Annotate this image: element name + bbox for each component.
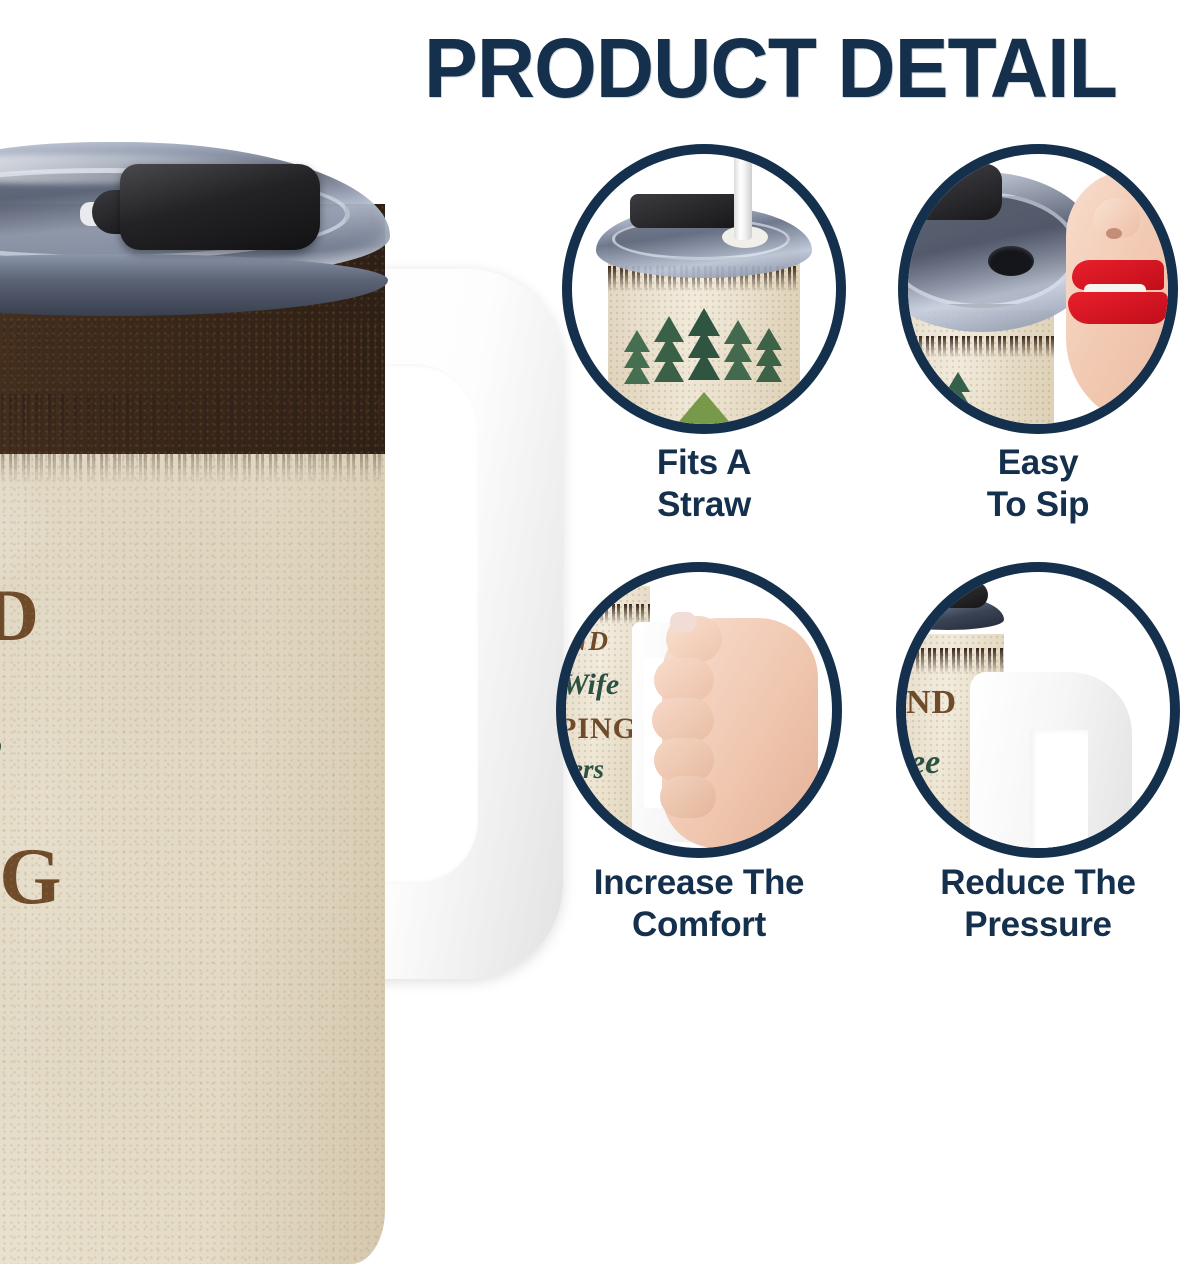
pine-tree-icon: [688, 314, 720, 380]
product-detail-page: PRODUCT DETAIL SBAND Wife MPING rtners l…: [0, 0, 1200, 1200]
pine-tree-icon: [724, 326, 752, 380]
mini-quote-partners: ners: [556, 754, 604, 785]
quote-line-camping: MPING: [0, 832, 64, 923]
mini-drip-fringe: [898, 336, 1054, 358]
lower-lip: [1068, 292, 1168, 324]
sip-spout-opening: [988, 246, 1034, 276]
lid-black-latch: [120, 164, 320, 250]
feature-caption-fits-a-straw: Fits A Straw: [562, 442, 846, 526]
tumbler-lid: [0, 128, 394, 318]
quote-line-husband: SBAND: [0, 574, 41, 659]
feature-circle-fits-a-straw: [562, 144, 846, 434]
mini-quote-husband: ND: [906, 684, 957, 722]
pine-tree-icon: [654, 322, 684, 382]
feature-caption-increase-the-comfort: Increase The Comfort: [542, 862, 856, 946]
finger: [660, 776, 716, 818]
pine-tree-icon: [912, 370, 938, 418]
feature-caption-reduce-the-pressure: Reduce The Pressure: [896, 862, 1180, 946]
feature-circle-reduce-the-pressure: ND ee: [896, 562, 1180, 858]
tent-icon: [670, 392, 738, 432]
mini-quote-wife: Wife: [562, 668, 619, 702]
mini-quote-husband: ND: [568, 626, 609, 657]
pine-tree-icon: [946, 378, 970, 420]
feature-circle-easy-to-sip: [898, 144, 1178, 434]
handle-inner-face: [1030, 730, 1088, 858]
mini-quote-camping: PING: [558, 712, 637, 746]
lid-rim: [0, 254, 388, 316]
finger: [652, 698, 714, 742]
thumbnail: [670, 612, 696, 632]
tumbler-drip-fringe: [0, 394, 385, 484]
tumbler-body: SBAND Wife MPING rtners life: [0, 204, 385, 1264]
mini-lid-black-latch: [926, 582, 988, 608]
nostril: [1106, 228, 1122, 239]
mini-drip-fringe: [556, 604, 650, 624]
quote-line-wife: Wife: [0, 694, 3, 805]
mini-lid-black-latch: [630, 194, 746, 228]
mini-quote-green: ee: [910, 744, 940, 782]
feature-caption-easy-to-sip: Easy To Sip: [898, 442, 1178, 526]
pine-tree-icon: [624, 336, 650, 384]
pine-tree-icon: [756, 334, 782, 382]
finger: [654, 658, 714, 702]
lid-black-latch: [898, 164, 1002, 220]
mini-drip-fringe: [896, 648, 1004, 674]
product-hero-image: SBAND Wife MPING rtners life: [0, 64, 560, 1204]
drinking-straw: [734, 150, 752, 240]
feature-circle-increase-the-comfort: ND Wife PING ners: [556, 562, 842, 858]
